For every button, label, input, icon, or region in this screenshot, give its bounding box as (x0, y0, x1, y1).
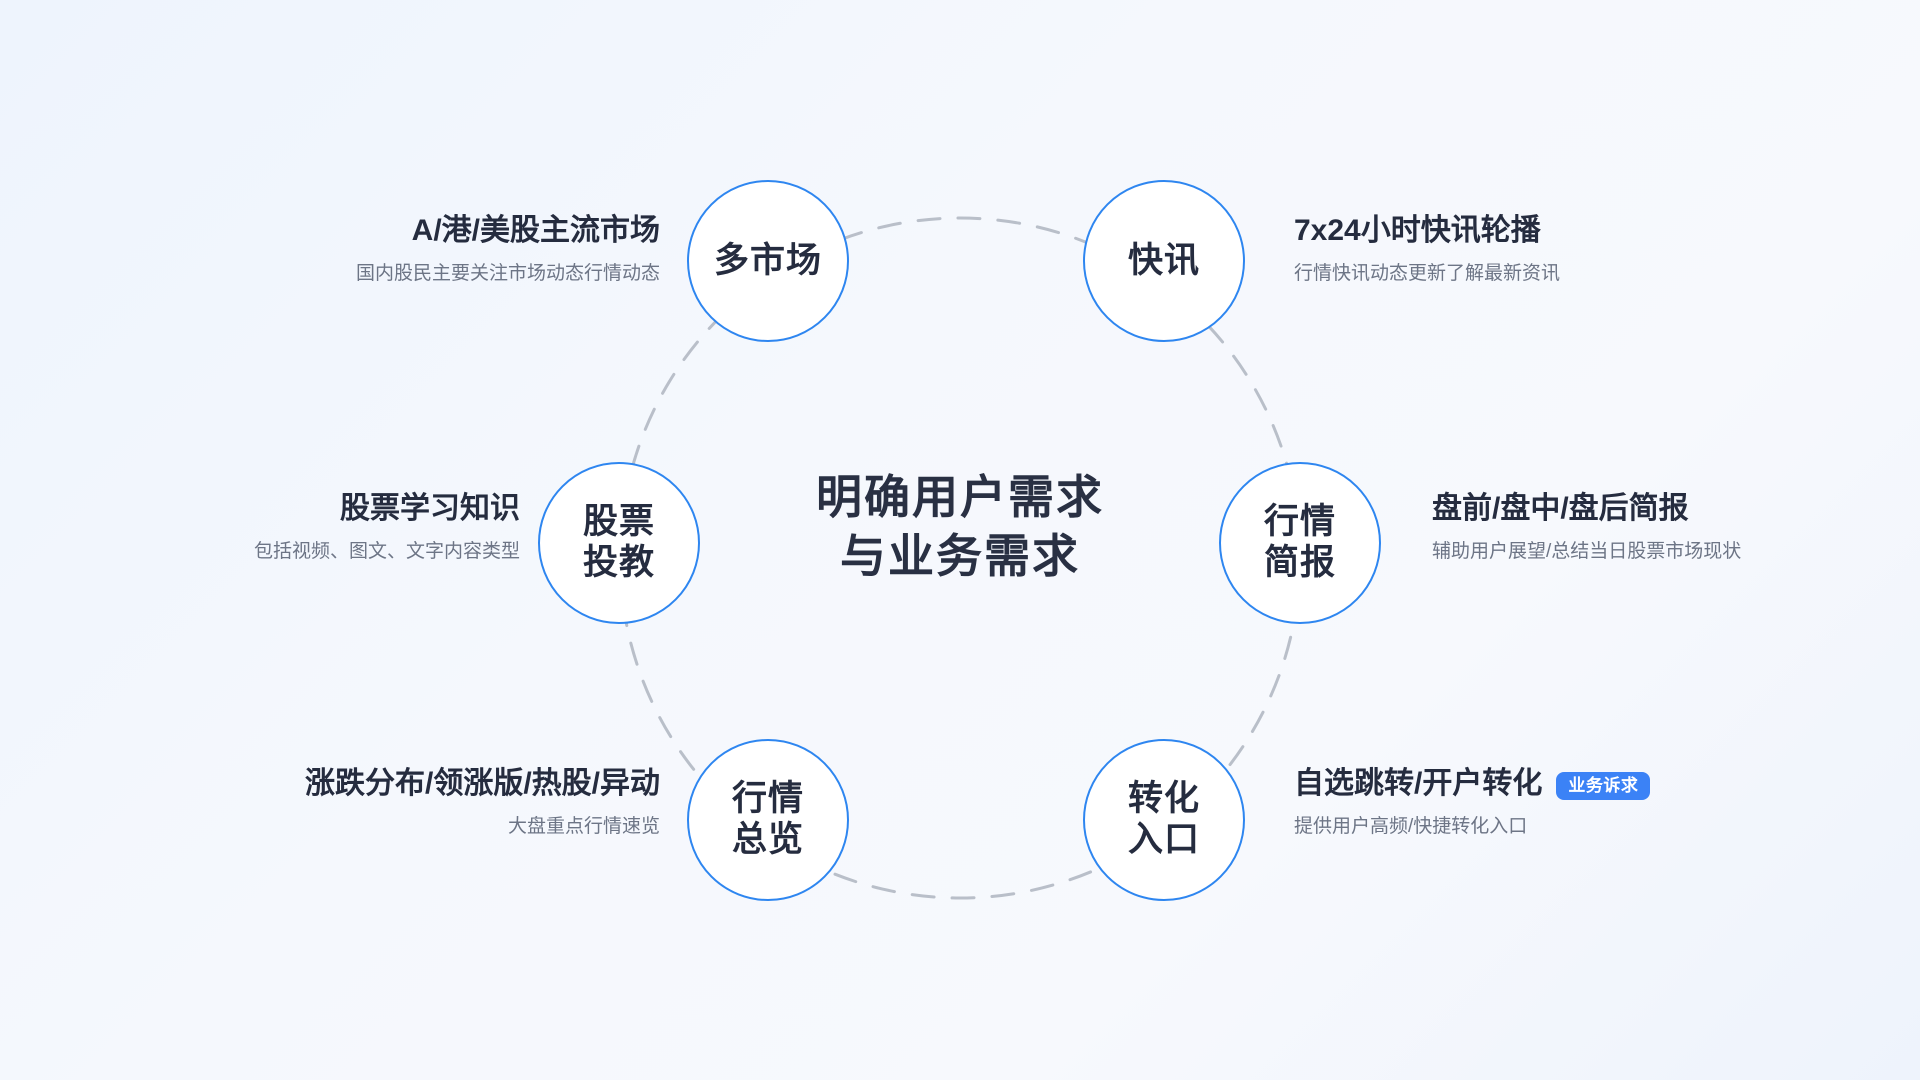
label-stock-edu-title: 股票学习知识 (120, 490, 520, 528)
node-conversion-entry-line2: 入口 (1128, 820, 1200, 861)
node-market-brief-line2: 简报 (1264, 543, 1336, 584)
node-market-overview-line2: 总览 (732, 820, 804, 861)
label-market-overview: 涨跌分布/领涨版/热股/异动 大盘重点行情速览 (120, 765, 660, 839)
label-market-brief-subtitle: 辅助用户展望/总结当日股票市场现状 (1432, 540, 1741, 565)
node-stock-edu-line1: 股票 (583, 502, 655, 543)
label-market-brief: 盘前/盘中/盘后简报 辅助用户展望/总结当日股票市场现状 (1432, 490, 1741, 564)
label-stock-edu-subtitle: 包括视频、图文、文字内容类型 (120, 540, 520, 565)
label-market-overview-subtitle: 大盘重点行情速览 (120, 815, 660, 840)
label-flash-news-subtitle: 行情快讯动态更新了解最新资讯 (1294, 262, 1560, 287)
node-market-overview[interactable]: 行情 总览 (687, 739, 849, 901)
label-stock-edu: 股票学习知识 包括视频、图文、文字内容类型 (120, 490, 520, 564)
node-multi-market-line1: 多市场 (714, 241, 822, 282)
label-multi-market-title: A/港/美股主流市场 (260, 212, 660, 250)
node-conversion-entry-line1: 转化 (1128, 779, 1200, 820)
label-conversion-entry: 自选跳转/开户转化 业务诉求 提供用户高频/快捷转化入口 (1294, 765, 1650, 839)
label-flash-news: 7x24小时快讯轮播 行情快讯动态更新了解最新资讯 (1294, 212, 1560, 286)
label-conversion-entry-title-text: 自选跳转/开户转化 (1294, 765, 1542, 803)
business-requirement-badge: 业务诉求 (1556, 772, 1650, 800)
label-conversion-entry-subtitle: 提供用户高频/快捷转化入口 (1294, 815, 1650, 840)
node-flash-news-line1: 快讯 (1128, 241, 1200, 282)
label-flash-news-title: 7x24小时快讯轮播 (1294, 212, 1560, 250)
label-multi-market: A/港/美股主流市场 国内股民主要关注市场动态行情动态 (260, 212, 660, 286)
node-market-brief-line1: 行情 (1264, 502, 1336, 543)
label-conversion-entry-title: 自选跳转/开户转化 业务诉求 (1294, 765, 1650, 803)
center-title: 明确用户需求 与业务需求 (770, 468, 1150, 586)
diagram-canvas: 多市场 快讯 股票 投教 行情 简报 行情 总览 转化 入口 明确用户需求 与业… (0, 0, 1920, 1080)
node-market-brief[interactable]: 行情 简报 (1219, 462, 1381, 624)
center-title-line1: 明确用户需求 (770, 468, 1150, 527)
label-multi-market-subtitle: 国内股民主要关注市场动态行情动态 (260, 262, 660, 287)
label-market-overview-title: 涨跌分布/领涨版/热股/异动 (120, 765, 660, 803)
center-title-line2: 与业务需求 (770, 527, 1150, 586)
node-stock-edu[interactable]: 股票 投教 (538, 462, 700, 624)
node-flash-news[interactable]: 快讯 (1083, 180, 1245, 342)
node-market-overview-line1: 行情 (732, 779, 804, 820)
node-stock-edu-line2: 投教 (583, 543, 655, 584)
node-multi-market[interactable]: 多市场 (687, 180, 849, 342)
node-conversion-entry[interactable]: 转化 入口 (1083, 739, 1245, 901)
label-market-brief-title: 盘前/盘中/盘后简报 (1432, 490, 1741, 528)
